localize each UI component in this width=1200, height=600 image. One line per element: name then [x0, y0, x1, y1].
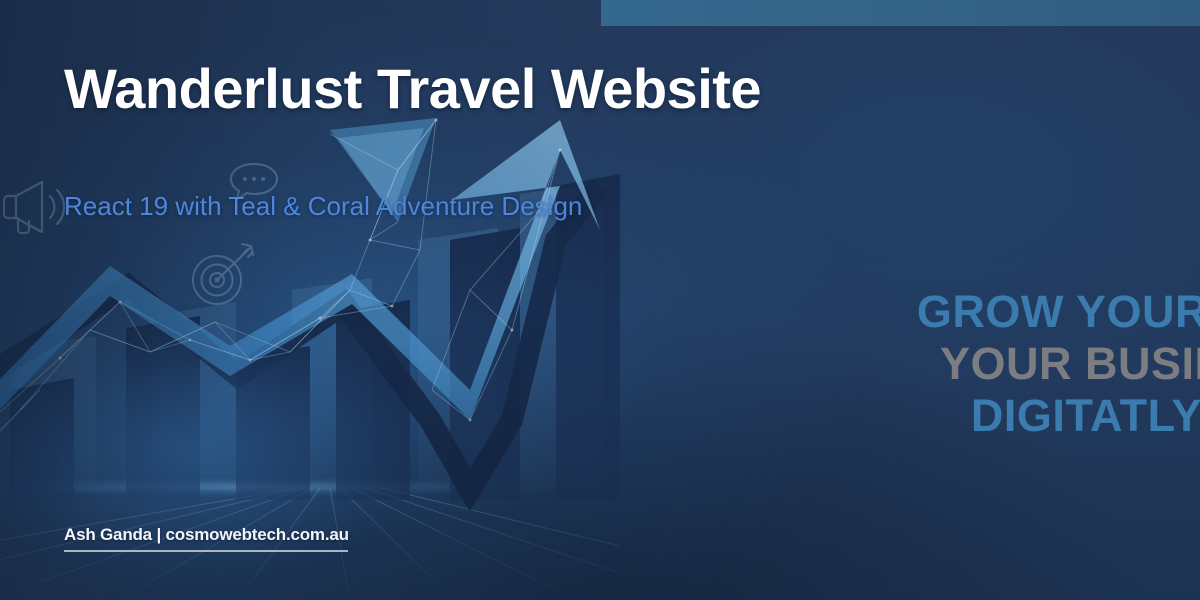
page-title: Wanderlust Travel Website: [64, 56, 761, 121]
marketing-line-3: DIGITATLY: [860, 390, 1200, 442]
footer-underline: [64, 550, 348, 552]
page-subtitle: React 19 with Teal & Coral Adventure Des…: [64, 191, 582, 222]
marketing-line-2: YOUR BUSINE: [860, 338, 1200, 390]
footer-credit: Ash Ganda | cosmowebtech.com.au: [64, 525, 349, 552]
marketing-text-block: GROW YOUR YOUR BUSINE DIGITATLY: [860, 286, 1200, 442]
footer-credit-text: Ash Ganda | cosmowebtech.com.au: [64, 525, 349, 545]
presentation-slide: GROW YOUR YOUR BUSINE DIGITATLY Wanderlu…: [0, 0, 1200, 600]
marketing-line-1: GROW YOUR: [860, 286, 1200, 338]
